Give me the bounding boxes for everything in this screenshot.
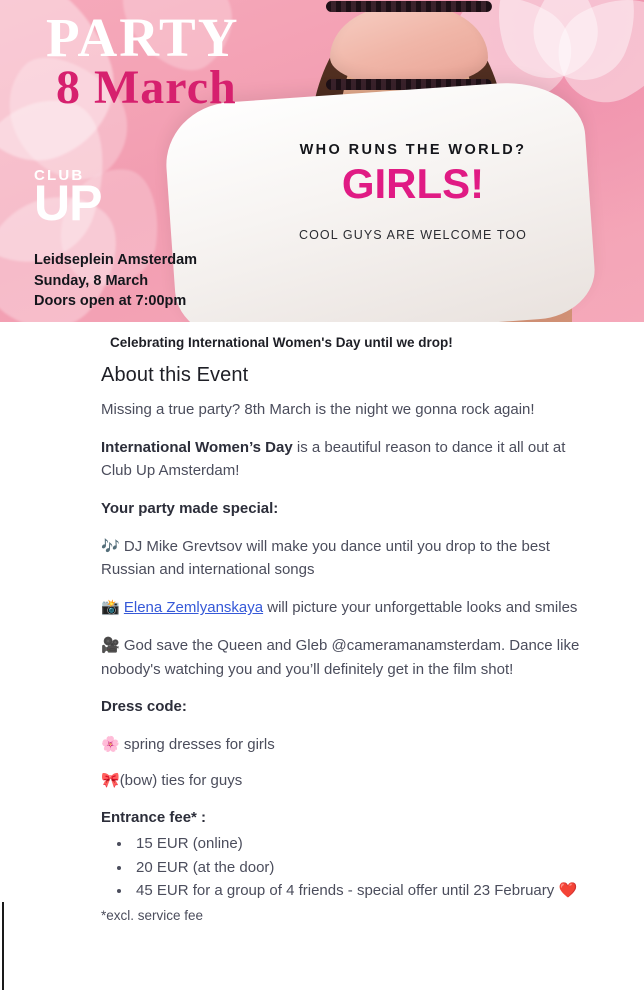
logo-up-word: UP <box>34 178 101 228</box>
list-item: 20 EUR (at the door) <box>132 856 583 880</box>
banner-headline: PARTY <box>46 10 239 65</box>
paragraph-intro: Missing a true party? 8th March is the n… <box>101 398 583 422</box>
dress-guys-text: (bow) ties for guys <box>120 772 243 789</box>
slogan-note: COOL GUYS ARE WELCOME TOO <box>248 228 578 242</box>
ribbon-icon: 🎀 <box>101 771 120 789</box>
music-notes-icon: 🎶 <box>101 537 120 555</box>
intro-text: Missing a true party? 8th March is the n… <box>101 401 535 418</box>
dress-code-guys: 🎀(bow) ties for guys <box>101 769 583 793</box>
dj-text: DJ Mike Grevtsov will make you dance unt… <box>101 538 550 579</box>
venue-doors-time: Doors open at 7:00pm <box>34 291 197 312</box>
event-description: Missing a true party? 8th March is the n… <box>101 398 583 926</box>
venue-day: Sunday, 8 March <box>34 271 197 292</box>
slogan-answer: GIRLS! <box>248 162 578 206</box>
about-this-event-heading: About this Event <box>101 364 248 387</box>
dress-code-label: Dress code: <box>101 698 187 715</box>
dress-code-girls: 🌸 spring dresses for girls <box>101 733 583 757</box>
fee-footnote: *excl. service fee <box>101 905 583 926</box>
dress-code-heading: Dress code: <box>101 695 583 719</box>
camera-icon: 📸 <box>101 598 120 616</box>
photographer-text: will picture your unforgettable looks an… <box>263 599 577 616</box>
list-item: 45 EUR for a group of 4 friends - specia… <box>132 879 583 903</box>
venue-location: Leidseplein Amsterdam <box>34 250 197 271</box>
venue-info: Leidseplein Amsterdam Sunday, 8 March Do… <box>34 250 197 312</box>
event-summary: Celebrating International Women's Day un… <box>110 335 590 350</box>
special-heading-label: Your party made special: <box>101 500 278 517</box>
entrance-fee-list: 15 EUR (online) 20 EUR (at the door) 45 … <box>101 832 583 903</box>
list-item: 15 EUR (online) <box>132 832 583 856</box>
pillow-slogan: WHO RUNS THE WORLD? GIRLS! COOL GUYS ARE… <box>248 142 578 242</box>
banner-text-layer: PARTY 8 March CLUB UP Leidseplein Amster… <box>0 0 644 322</box>
club-up-logo: CLUB UP <box>34 168 101 228</box>
cherry-blossom-icon: 🌸 <box>101 735 120 753</box>
entrance-fee-label: Entrance fee* : <box>101 809 206 826</box>
slogan-question: WHO RUNS THE WORLD? <box>248 142 578 158</box>
paragraph-photographer: 📸 Elena Zemlyanskaya will picture your u… <box>101 596 583 620</box>
movie-camera-icon: 🎥 <box>101 636 120 654</box>
photographer-link[interactable]: Elena Zemlyanskaya <box>124 599 263 616</box>
paragraph-iwd: International Women’s Day is a beautiful… <box>101 436 583 483</box>
videographer-text: God save the Queen and Gleb @cameramanam… <box>101 637 579 678</box>
entrance-fee-heading: Entrance fee* : <box>101 806 583 830</box>
left-edge-rule <box>2 902 4 990</box>
special-heading: Your party made special: <box>101 497 583 521</box>
dress-girls-text: spring dresses for girls <box>120 736 275 753</box>
paragraph-dj: 🎶 DJ Mike Grevtsov will make you dance u… <box>101 535 583 582</box>
paragraph-videographer: 🎥 God save the Queen and Gleb @cameraman… <box>101 634 583 681</box>
iwd-bold-lead: International Women’s Day <box>101 439 293 456</box>
event-banner-image: PARTY 8 March CLUB UP Leidseplein Amster… <box>0 0 644 322</box>
banner-date-headline: 8 March <box>56 64 237 112</box>
